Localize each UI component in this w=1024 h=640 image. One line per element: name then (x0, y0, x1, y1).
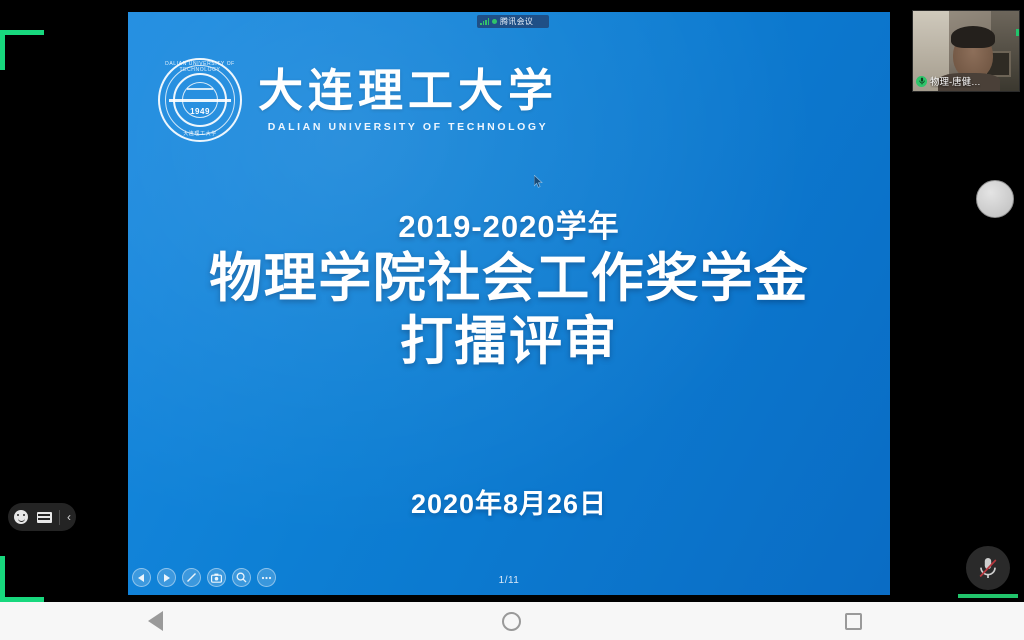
recording-bracket-top-left (0, 0, 44, 44)
mute-microphone-button[interactable] (966, 546, 1010, 590)
floating-assistive-button[interactable] (976, 180, 1014, 218)
chevron-left-icon[interactable]: ‹ (67, 511, 71, 523)
slide-title-year: 2019-2020学年 (128, 208, 890, 247)
status-app-name: 腾讯会议 (500, 18, 533, 26)
green-dot-icon (492, 19, 497, 24)
home-circle-icon (502, 612, 521, 631)
smiley-icon (14, 510, 28, 524)
seal-arc-bottom: 大连理工大学 (158, 130, 242, 137)
seal-year: 1949 (158, 107, 242, 116)
play-button[interactable] (157, 568, 176, 587)
mic-status-accent-bar (958, 594, 1018, 598)
university-name-cn: 大连理工大学 (258, 67, 558, 114)
participant-name: 物理-唐健… (930, 74, 981, 88)
slide-title-line1: 物理学院社会工作奖学金 (128, 247, 890, 311)
zoom-button[interactable] (232, 568, 251, 587)
camera-capture-button[interactable] (207, 568, 226, 587)
nav-recents-button[interactable] (793, 613, 913, 630)
slide-title-line2: 打擂评审 (128, 310, 890, 374)
participant-hair (951, 26, 995, 48)
signal-bars-icon (480, 18, 489, 25)
pen-annotate-button[interactable] (182, 568, 201, 587)
nav-back-button[interactable] (111, 611, 231, 631)
android-navigation-bar[interactable] (0, 602, 1024, 640)
participant-name-bar: 物理-唐健… (916, 74, 981, 88)
microphone-on-icon (916, 76, 927, 87)
university-logo: DALIAN UNIVERSITY OF TECHNOLOGY 1949 大连理… (158, 58, 558, 142)
keyboard-button[interactable] (36, 510, 52, 524)
back-triangle-icon (163, 611, 178, 631)
recording-bracket-bottom-left (0, 556, 44, 602)
left-floating-toolbar[interactable]: ‹ (8, 503, 76, 531)
more-options-button[interactable] (257, 568, 276, 587)
video-green-edge-indicator (1016, 29, 1019, 36)
toolbar-divider (59, 510, 60, 525)
presentation-slide[interactable]: DALIAN UNIVERSITY OF TECHNOLOGY 1949 大连理… (128, 12, 890, 595)
mouse-cursor-icon (534, 175, 543, 188)
prev-slide-button[interactable] (132, 568, 151, 587)
slide-toolbar[interactable] (132, 568, 276, 587)
seal-arc-top: DALIAN UNIVERSITY OF TECHNOLOGY (158, 61, 242, 73)
microphone-muted-icon (977, 555, 999, 581)
slide-title-block: 2019-2020学年 物理学院社会工作奖学金 打擂评审 (128, 208, 890, 374)
recents-square-icon (845, 613, 862, 630)
page-indicator: 1/11 (499, 575, 520, 586)
university-seal-icon: DALIAN UNIVERSITY OF TECHNOLOGY 1949 大连理… (158, 58, 242, 142)
participant-video-thumbnail[interactable]: 物理-唐健… (912, 10, 1020, 92)
emoji-button[interactable] (13, 510, 29, 524)
university-name-en: DALIAN UNIVERSITY OF TECHNOLOGY (258, 121, 558, 133)
tencent-meeting-status-pill: 腾讯会议 (477, 15, 549, 28)
nav-home-button[interactable] (452, 612, 572, 631)
slide-date: 2020年8月26日 (128, 482, 890, 521)
keyboard-icon (37, 512, 52, 523)
